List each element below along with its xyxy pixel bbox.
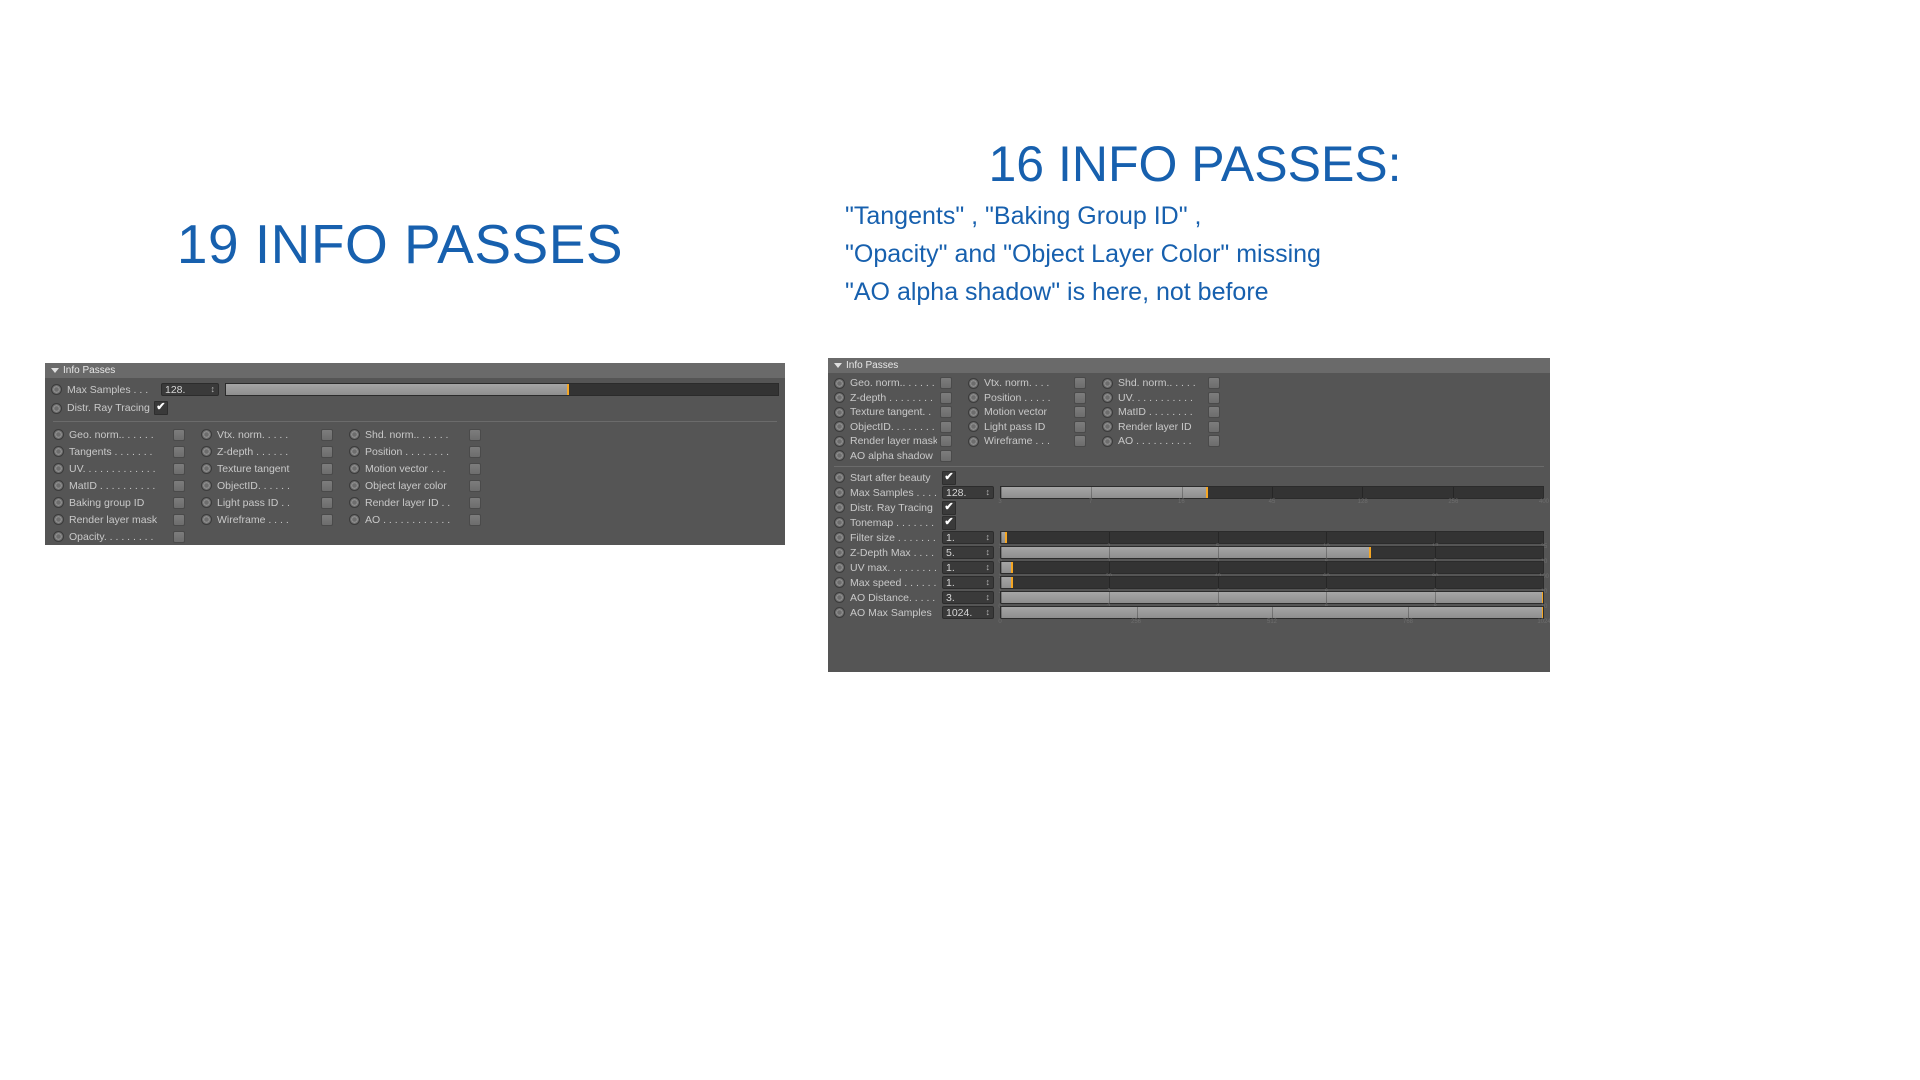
param-node-icon[interactable] [834, 577, 845, 588]
setting-label: Max Samples . . . . [850, 487, 942, 499]
pass-label: Opacity. . . . . . . . . [69, 531, 170, 543]
pass-toggle-row[interactable]: AO alpha shadow [834, 450, 952, 462]
left-max-samples-slider[interactable] [225, 383, 779, 396]
stepper-icon[interactable]: ↕ [986, 578, 991, 587]
pass-grid-row: Render layer maskWireframe . . .AO . . .… [834, 434, 1544, 449]
setting-row: Max speed . . . . . .1.↕1246810 [834, 575, 1544, 590]
setting-value-field[interactable]: 1.↕ [942, 531, 994, 544]
param-node-icon[interactable] [201, 480, 212, 491]
slider-fill [1001, 547, 1370, 558]
param-node-icon[interactable] [201, 429, 212, 440]
param-node-icon[interactable] [201, 463, 212, 474]
pass-checkbox[interactable] [173, 463, 185, 475]
pass-grid-row: Opacity. . . . . . . . . [53, 528, 777, 545]
left-heading: 19 INFO PASSES [140, 212, 660, 276]
slider-knob[interactable] [1542, 591, 1544, 604]
pass-toggle-row[interactable]: Opacity. . . . . . . . . [53, 531, 185, 543]
setting-label: AO Max Samples [850, 607, 942, 619]
setting-row: Tonemap . . . . . . .✔ [834, 515, 1544, 530]
pass-checkbox[interactable] [321, 463, 333, 475]
pass-toggle-row[interactable]: Shd. norm.. . . . . [1102, 377, 1220, 389]
pass-label: Motion vector . . . [365, 463, 466, 475]
pass-label: Light pass ID [984, 421, 1071, 433]
pass-grid-row: Geo. norm.. . . . . .Vtx. norm. . . .Shd… [834, 376, 1544, 391]
pass-checkbox[interactable] [469, 514, 481, 526]
slider-ticks [1001, 562, 1543, 573]
pass-checkbox[interactable] [173, 429, 185, 441]
param-node-icon[interactable] [834, 378, 845, 389]
setting-slider[interactable] [1000, 486, 1544, 499]
param-node-icon[interactable] [53, 480, 64, 491]
triangle-down-icon[interactable] [834, 363, 842, 368]
left-panel-divider [53, 421, 777, 422]
pass-grid-row: MatID . . . . . . . . . .ObjectID. . . .… [53, 477, 777, 494]
pass-label: ObjectID. . . . . . [217, 480, 318, 492]
pass-label: ObjectID. . . . . . . . [850, 421, 937, 433]
pass-checkbox[interactable] [1208, 421, 1220, 433]
setting-label: Distr. Ray Tracing [850, 502, 942, 514]
pass-toggle-row[interactable]: Render layer ID [1102, 421, 1220, 433]
setting-checkbox[interactable]: ✔ [942, 516, 956, 530]
pass-label: Wireframe . . . [984, 435, 1071, 447]
pass-checkbox[interactable] [321, 480, 333, 492]
right-settings-list: Start after beauty✔Max Samples . . . .12… [828, 470, 1550, 620]
left-max-samples-value: 128. [165, 384, 185, 396]
pass-toggle-row[interactable]: ObjectID. . . . . . [201, 480, 333, 492]
pass-checkbox[interactable] [940, 435, 952, 447]
setting-value: 1024. [946, 607, 972, 619]
setting-value: 128. [946, 487, 966, 499]
pass-label: AO alpha shadow [850, 450, 937, 462]
pass-checkbox[interactable] [469, 463, 481, 475]
param-node-icon[interactable] [349, 497, 360, 508]
slide-canvas: 19 INFO PASSES 16 INFO PASSES: "Tangents… [0, 0, 1920, 1080]
setting-label: Z-Depth Max . . . . [850, 547, 942, 559]
pass-label: Texture tangent. . [850, 406, 937, 418]
pass-checkbox[interactable] [1208, 392, 1220, 404]
pass-checkbox[interactable] [940, 450, 952, 462]
setting-slider[interactable] [1000, 591, 1544, 604]
stepper-icon[interactable]: ↕ [986, 488, 991, 497]
pass-toggle-row[interactable]: Render layer mask [834, 435, 952, 447]
setting-value-field[interactable]: 5.↕ [942, 546, 994, 559]
right-heading-note-2: "Opacity" and "Object Layer Color" missi… [845, 235, 1545, 273]
stepper-icon[interactable]: ↕ [211, 385, 216, 394]
left-info-passes-panel: Info Passes Max Samples . . . 128. ↕ Dis… [45, 363, 785, 545]
pass-grid-row: Tangents . . . . . . .Z-depth . . . . . … [53, 443, 777, 460]
param-node-icon[interactable] [349, 429, 360, 440]
left-distr-ray-tracing-label: Distr. Ray Tracing [67, 402, 150, 414]
setting-slider[interactable] [1000, 576, 1544, 589]
pass-checkbox[interactable] [321, 446, 333, 458]
pass-label: Texture tangent [217, 463, 318, 475]
param-node-icon[interactable] [968, 407, 979, 418]
pass-toggle-row[interactable]: Texture tangent. . [834, 406, 952, 418]
pass-toggle-row[interactable]: Baking group ID [53, 497, 185, 509]
param-node-icon[interactable] [53, 514, 64, 525]
setting-checkbox[interactable]: ✔ [942, 501, 956, 515]
param-node-icon[interactable] [1102, 436, 1113, 447]
setting-label: Start after beauty [850, 472, 942, 484]
pass-label: Motion vector [984, 406, 1071, 418]
left-max-samples-row: Max Samples . . . 128. ↕ [45, 378, 785, 398]
param-node-icon[interactable] [834, 547, 845, 558]
pass-toggle-row[interactable]: Motion vector . . . [349, 463, 481, 475]
pass-toggle-row[interactable]: Z-depth . . . . . . . . [834, 392, 952, 404]
param-node-icon[interactable] [349, 446, 360, 457]
pass-grid-row: UV. . . . . . . . . . . . .Texture tange… [53, 460, 777, 477]
pass-toggle-row[interactable]: Shd. norm.. . . . . . [349, 429, 481, 441]
setting-row: Z-Depth Max . . . .5.↕0246810 [834, 545, 1544, 560]
pass-label: MatID . . . . . . . . [1118, 406, 1205, 418]
pass-grid-row: Baking group IDLight pass ID . .Render l… [53, 494, 777, 511]
pass-toggle-row[interactable]: Vtx. norm. . . . . [201, 429, 333, 441]
pass-checkbox[interactable] [1208, 377, 1220, 389]
slider-knob[interactable] [1011, 561, 1013, 574]
setting-value: 3. [946, 592, 955, 604]
param-node-icon[interactable] [349, 463, 360, 474]
pass-toggle-row[interactable]: Position . . . . . [968, 392, 1086, 404]
pass-checkbox[interactable] [940, 421, 952, 433]
pass-toggle-row[interactable]: AO . . . . . . . . . . . . [349, 514, 481, 526]
pass-grid-row: Geo. norm.. . . . . .Vtx. norm. . . . .S… [53, 426, 777, 443]
pass-toggle-row[interactable]: UV. . . . . . . . . . . . . [53, 463, 185, 475]
pass-checkbox[interactable] [321, 429, 333, 441]
setting-value: 5. [946, 547, 955, 559]
stepper-icon[interactable]: ↕ [986, 593, 991, 602]
pass-label: Render layer ID . . [365, 497, 466, 509]
param-node-icon[interactable] [201, 446, 212, 457]
pass-checkbox[interactable] [321, 497, 333, 509]
right-panel-titlebar[interactable]: Info Passes [828, 358, 1550, 373]
pass-label: Vtx. norm. . . . . [217, 429, 318, 441]
pass-checkbox[interactable] [173, 514, 185, 526]
param-node-icon[interactable] [834, 517, 845, 528]
setting-value: 1. [946, 562, 955, 574]
pass-toggle-row[interactable]: MatID . . . . . . . . [1102, 406, 1220, 418]
setting-value: 1. [946, 532, 955, 544]
pass-label: UV. . . . . . . . . . . . . [69, 463, 170, 475]
pass-grid-row: Render layer maskWireframe . . . .AO . .… [53, 511, 777, 528]
setting-slider[interactable] [1000, 531, 1544, 544]
stepper-icon[interactable]: ↕ [986, 608, 991, 617]
param-node-icon[interactable] [53, 446, 64, 457]
param-node-icon[interactable] [834, 607, 845, 618]
param-node-icon[interactable] [834, 450, 845, 461]
slider-knob[interactable] [1011, 576, 1013, 589]
pass-label: MatID . . . . . . . . . . [69, 480, 170, 492]
slider-ticks [1001, 577, 1543, 588]
pass-label: Geo. norm.. . . . . . [69, 429, 170, 441]
pass-toggle-row[interactable]: AO . . . . . . . . . . [1102, 435, 1220, 447]
pass-toggle-row[interactable]: Wireframe . . . [968, 435, 1086, 447]
pass-checkbox[interactable] [469, 429, 481, 441]
left-distr-ray-tracing-checkbox[interactable]: ✔ [154, 401, 168, 415]
stepper-icon[interactable]: ↕ [986, 533, 991, 542]
pass-toggle-row[interactable]: UV. . . . . . . . . . . [1102, 392, 1220, 404]
right-info-passes-panel: Info Passes Geo. norm.. . . . . .Vtx. no… [828, 358, 1550, 672]
param-node-icon[interactable] [834, 392, 845, 403]
param-node-icon[interactable] [834, 562, 845, 573]
right-panel-title-label: Info Passes [846, 360, 898, 371]
param-node-icon[interactable] [349, 480, 360, 491]
slider-ticks [1001, 532, 1543, 543]
param-node-icon[interactable] [201, 514, 212, 525]
pass-label: Render layer ID [1118, 421, 1205, 433]
left-panel-titlebar[interactable]: Info Passes [45, 363, 785, 378]
setting-checkbox[interactable]: ✔ [942, 471, 956, 485]
setting-row: Filter size . . . . . . .1.↕125101725 [834, 530, 1544, 545]
param-node-icon[interactable] [53, 531, 64, 542]
setting-row: AO Max Samples1024.↕02565127681024 [834, 605, 1544, 620]
setting-value-field[interactable]: 1024.↕ [942, 606, 994, 619]
pass-grid-row: AO alpha shadow [834, 449, 1544, 464]
setting-value-field[interactable]: 1.↕ [942, 576, 994, 589]
param-node-icon[interactable] [834, 592, 845, 603]
pass-toggle-row[interactable]: Vtx. norm. . . . [968, 377, 1086, 389]
pass-label: Object layer color [365, 480, 466, 492]
param-node-icon[interactable] [834, 532, 845, 543]
pass-label: Baking group ID [69, 497, 170, 509]
setting-label: AO Distance. . . . . [850, 592, 942, 604]
setting-value-field[interactable]: 1.↕ [942, 561, 994, 574]
setting-row: Max Samples . . . .128.↕371645128256400 [834, 485, 1544, 500]
right-panel-divider [834, 466, 1544, 467]
slider-fill [1001, 607, 1543, 618]
param-node-icon[interactable] [834, 472, 845, 483]
triangle-down-icon[interactable] [51, 368, 59, 373]
right-heading-notes: "Tangents" , "Baking Group ID" , "Opacit… [845, 197, 1545, 311]
pass-toggle-row[interactable]: Geo. norm.. . . . . . [53, 429, 185, 441]
right-heading-note-1: "Tangents" , "Baking Group ID" , [845, 197, 1545, 235]
slider-knob[interactable] [1206, 486, 1208, 499]
pass-label: Render layer mask [850, 435, 937, 447]
pass-label: Position . . . . . [984, 392, 1071, 404]
param-node-icon[interactable] [1102, 407, 1113, 418]
pass-toggle-row[interactable]: Z-depth . . . . . . [201, 446, 333, 458]
right-pass-grid: Geo. norm.. . . . . .Vtx. norm. . . .Shd… [828, 373, 1550, 463]
setting-label: Max speed . . . . . . [850, 577, 942, 589]
pass-toggle-row[interactable]: ObjectID. . . . . . . . [834, 421, 952, 433]
left-panel-title-label: Info Passes [63, 365, 115, 376]
pass-grid-row: ObjectID. . . . . . . .Light pass IDRend… [834, 420, 1544, 435]
param-node-icon[interactable] [349, 514, 360, 525]
pass-label: Geo. norm.. . . . . . [850, 377, 937, 389]
slider-tick-labels: 371645128256400 [1000, 499, 1544, 507]
pass-label: Vtx. norm. . . . [984, 377, 1071, 389]
pass-label: AO . . . . . . . . . . [1118, 435, 1205, 447]
slider-knob[interactable] [1542, 606, 1544, 619]
pass-checkbox[interactable] [1074, 406, 1086, 418]
slider-knob[interactable] [1005, 531, 1007, 544]
param-node-icon[interactable] [1102, 378, 1113, 389]
pass-checkbox[interactable] [1208, 435, 1220, 447]
pass-toggle-row[interactable]: Object layer color [349, 480, 481, 492]
stepper-icon[interactable]: ↕ [986, 548, 991, 557]
pass-checkbox[interactable] [1074, 421, 1086, 433]
left-max-samples-label: Max Samples . . . [67, 384, 159, 396]
pass-label: Position . . . . . . . . [365, 446, 466, 458]
param-node-icon[interactable] [968, 436, 979, 447]
setting-label: Tonemap . . . . . . . [850, 517, 942, 529]
pass-checkbox[interactable] [940, 392, 952, 404]
pass-checkbox[interactable] [469, 480, 481, 492]
param-node-icon[interactable] [51, 403, 62, 414]
right-heading-group: 16 INFO PASSES: "Tangents" , "Baking Gro… [845, 138, 1545, 311]
left-distr-ray-tracing-row: Distr. Ray Tracing ✔ [45, 398, 785, 416]
param-node-icon[interactable] [834, 407, 845, 418]
param-node-icon[interactable] [53, 497, 64, 508]
pass-toggle-row[interactable]: Render layer mask [53, 514, 185, 526]
pass-checkbox[interactable] [940, 406, 952, 418]
pass-toggle-row[interactable]: Geo. norm.. . . . . . [834, 377, 952, 389]
param-node-icon[interactable] [1102, 392, 1113, 403]
setting-row: Start after beauty✔ [834, 470, 1544, 485]
pass-toggle-row[interactable]: Texture tangent [201, 463, 333, 475]
slider-tick-labels: 02565127681024 [1000, 619, 1544, 627]
param-node-icon[interactable] [834, 487, 845, 498]
pass-label: Z-depth . . . . . . [217, 446, 318, 458]
param-node-icon[interactable] [53, 463, 64, 474]
pass-checkbox[interactable] [173, 446, 185, 458]
param-node-icon[interactable] [834, 421, 845, 432]
pass-label: Light pass ID . . [217, 497, 318, 509]
param-node-icon[interactable] [834, 436, 845, 447]
right-heading-title: 16 INFO PASSES: [845, 138, 1545, 191]
pass-label: Wireframe . . . . [217, 514, 318, 526]
right-heading-note-3: "AO alpha shadow" is here, not before [845, 273, 1545, 311]
pass-label: Z-depth . . . . . . . . [850, 392, 937, 404]
pass-checkbox[interactable] [173, 480, 185, 492]
param-node-icon[interactable] [968, 378, 979, 389]
pass-checkbox[interactable] [1074, 377, 1086, 389]
slider-fill [1001, 487, 1207, 498]
slider-knob[interactable] [567, 383, 569, 396]
pass-toggle-row[interactable]: Render layer ID . . [349, 497, 481, 509]
setting-label: Filter size . . . . . . . [850, 532, 942, 544]
slider-knob[interactable] [1369, 546, 1371, 559]
pass-checkbox[interactable] [469, 497, 481, 509]
param-node-icon[interactable] [51, 384, 62, 395]
setting-row: AO Distance. . . . .3.↕0246810 [834, 590, 1544, 605]
pass-grid-row: Z-depth . . . . . . . .Position . . . . … [834, 391, 1544, 406]
pass-toggle-row[interactable]: Tangents . . . . . . . [53, 446, 185, 458]
pass-checkbox[interactable] [321, 514, 333, 526]
setting-label: UV max. . . . . . . . . [850, 562, 942, 574]
pass-checkbox[interactable] [173, 531, 185, 543]
param-node-icon[interactable] [968, 421, 979, 432]
pass-toggle-row[interactable]: Light pass ID . . [201, 497, 333, 509]
pass-toggle-row[interactable]: Light pass ID [968, 421, 1086, 433]
slider-fill [226, 384, 568, 395]
pass-grid-row: Texture tangent. .Motion vectorMatID . .… [834, 405, 1544, 420]
setting-value: 1. [946, 577, 955, 589]
pass-label: Render layer mask [69, 514, 170, 526]
pass-label: UV. . . . . . . . . . . [1118, 392, 1205, 404]
pass-label: AO . . . . . . . . . . . . [365, 514, 466, 526]
pass-label: Shd. norm.. . . . . . [365, 429, 466, 441]
param-node-icon[interactable] [53, 429, 64, 440]
setting-slider[interactable] [1000, 546, 1544, 559]
setting-value-field[interactable]: 128.↕ [942, 486, 994, 499]
pass-toggle-row[interactable]: Motion vector [968, 406, 1086, 418]
pass-checkbox[interactable] [1074, 435, 1086, 447]
pass-toggle-row[interactable]: Wireframe . . . . [201, 514, 333, 526]
setting-value-field[interactable]: 3.↕ [942, 591, 994, 604]
stepper-icon[interactable]: ↕ [986, 563, 991, 572]
param-node-icon[interactable] [968, 392, 979, 403]
setting-slider[interactable] [1000, 561, 1544, 574]
pass-checkbox[interactable] [173, 497, 185, 509]
pass-toggle-row[interactable]: Position . . . . . . . . [349, 446, 481, 458]
pass-label: Shd. norm.. . . . . [1118, 377, 1205, 389]
param-node-icon[interactable] [834, 502, 845, 513]
param-node-icon[interactable] [1102, 421, 1113, 432]
left-pass-grid: Geo. norm.. . . . . .Vtx. norm. . . . .S… [45, 426, 785, 545]
pass-checkbox[interactable] [1074, 392, 1086, 404]
slider-fill [1001, 592, 1543, 603]
setting-slider[interactable] [1000, 606, 1544, 619]
pass-label: Tangents . . . . . . . [69, 446, 170, 458]
pass-toggle-row[interactable]: MatID . . . . . . . . . . [53, 480, 185, 492]
pass-checkbox[interactable] [1208, 406, 1220, 418]
left-max-samples-field[interactable]: 128. ↕ [161, 383, 219, 396]
param-node-icon[interactable] [201, 497, 212, 508]
setting-row: UV max. . . . . . . . .1.↕120406080100 [834, 560, 1544, 575]
pass-checkbox[interactable] [469, 446, 481, 458]
pass-checkbox[interactable] [940, 377, 952, 389]
